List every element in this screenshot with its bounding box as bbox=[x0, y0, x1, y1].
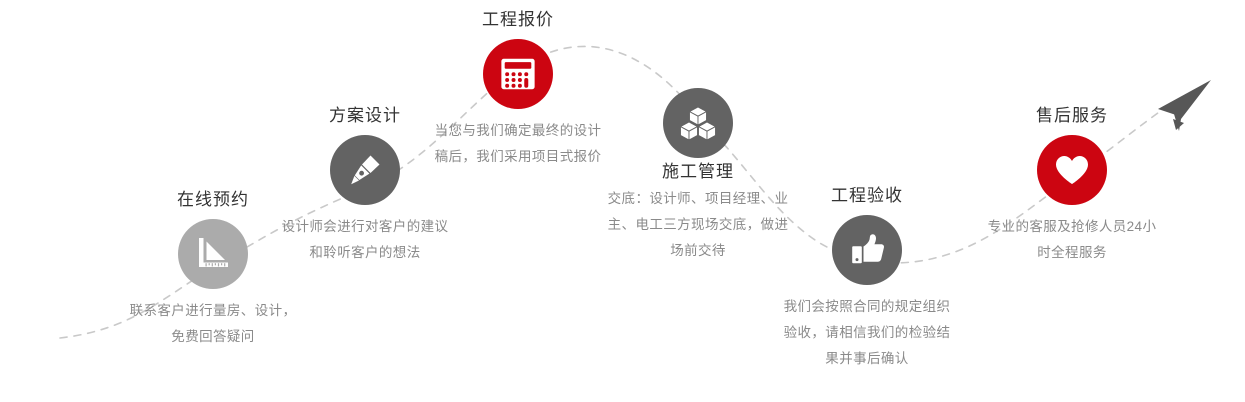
step-6-after-sales-service[interactable]: 售后服务 专业的客服及抢修人员24小时全程服务 bbox=[982, 106, 1162, 266]
heart-icon bbox=[1052, 150, 1092, 190]
step-5-project-acceptance[interactable]: 工程验收 我们会按照合同的规定组织验收，请相信我们的检验结果并事后确认 bbox=[777, 186, 957, 372]
step-badge[interactable] bbox=[663, 88, 733, 158]
step-3-project-quotation[interactable]: 工程报价 bbox=[428, 10, 608, 170]
step-title: 施工管理 bbox=[605, 162, 791, 182]
step-description: 设计师会进行对客户的建议和聆听客户的想法 bbox=[275, 214, 455, 266]
service-process-flow: 在线预约 联系客户进行量房、设计，免费 bbox=[0, 0, 1245, 402]
step-badge[interactable] bbox=[832, 215, 902, 285]
step-title: 工程报价 bbox=[428, 10, 608, 30]
step-badge[interactable] bbox=[330, 135, 400, 205]
triangle-ruler-icon bbox=[193, 234, 233, 274]
step-description: 当您与我们确定最终的设计稿后，我们采用项目式报价 bbox=[428, 118, 608, 170]
cubes-icon bbox=[678, 103, 718, 143]
step-4-construction-management[interactable]: 施工管理 交底：设计师、项目经理、业主、电工三方现场交底，做进场前交待 bbox=[605, 88, 791, 264]
calculator-icon bbox=[499, 55, 537, 93]
step-description: 交底：设计师、项目经理、业主、电工三方现场交底，做进场前交待 bbox=[605, 186, 791, 264]
step-description: 我们会按照合同的规定组织验收，请相信我们的检验结果并事后确认 bbox=[777, 294, 957, 372]
step-description: 专业的客服及抢修人员24小时全程服务 bbox=[982, 214, 1162, 266]
thumbs-up-icon bbox=[847, 230, 887, 270]
step-badge[interactable] bbox=[178, 219, 248, 289]
step-description: 联系客户进行量房、设计，免费回答疑问 bbox=[123, 298, 303, 350]
step-title: 售后服务 bbox=[982, 106, 1162, 126]
step-badge[interactable] bbox=[483, 39, 553, 109]
step-title: 工程验收 bbox=[777, 186, 957, 206]
step-badge[interactable] bbox=[1037, 135, 1107, 205]
fountain-pen-icon bbox=[345, 150, 385, 190]
